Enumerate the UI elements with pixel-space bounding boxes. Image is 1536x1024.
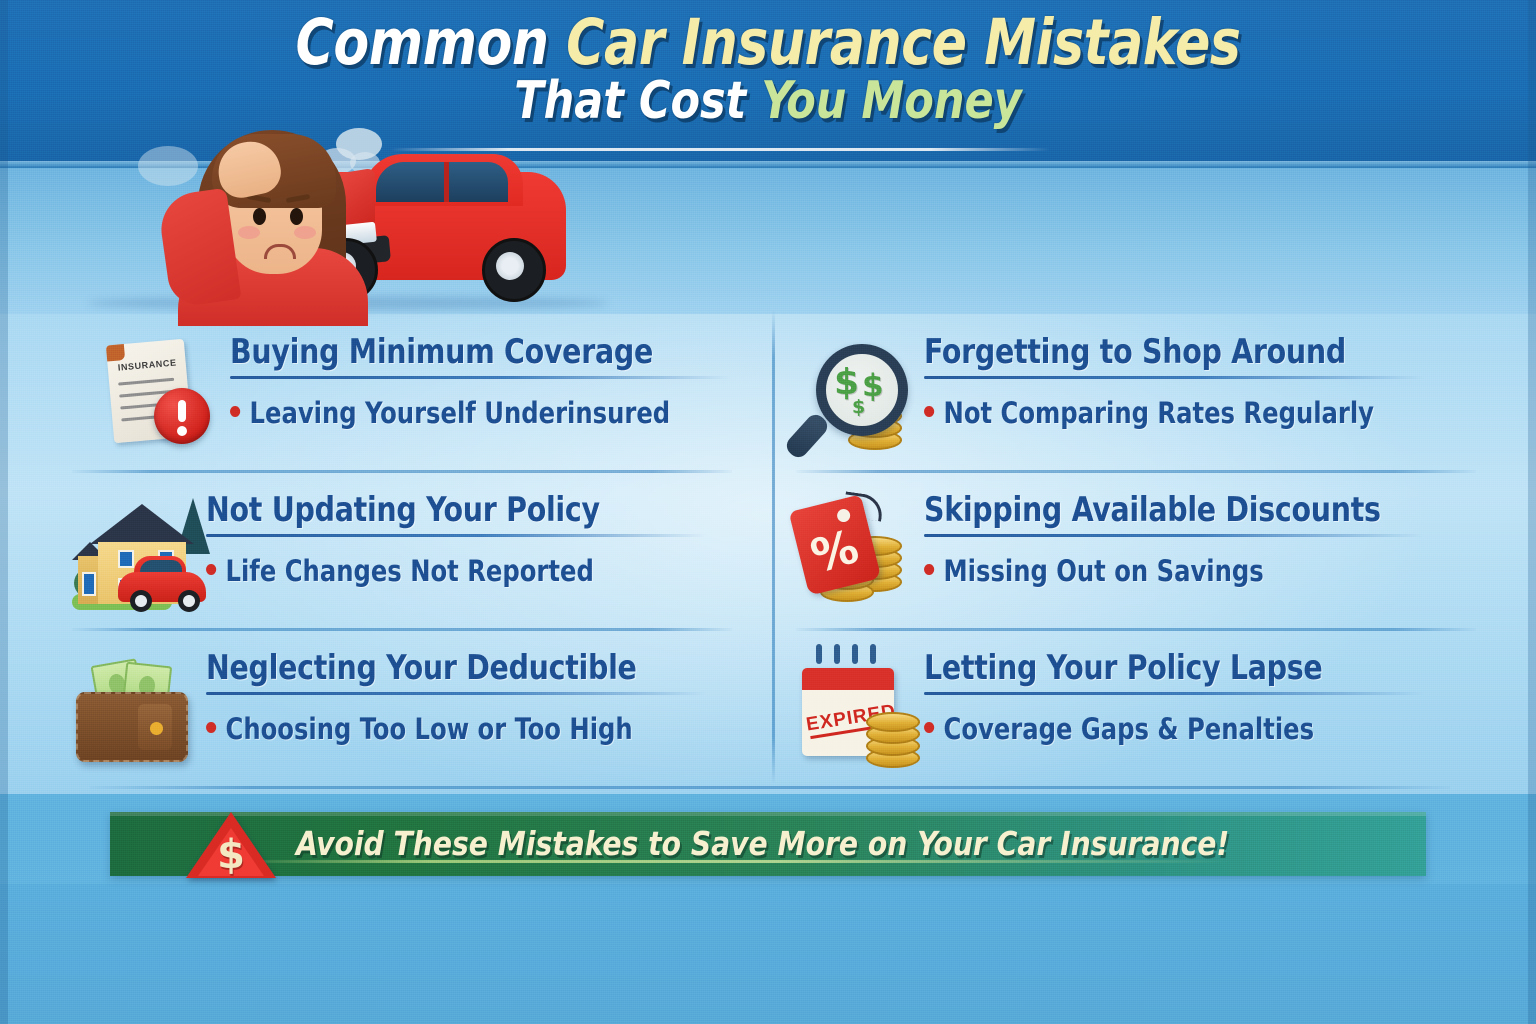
car-window	[376, 162, 508, 202]
mistake-text-group: Forgetting to Shop Around Not Comparing …	[924, 330, 1480, 431]
mistake-item-forgetting-to-shop-around[interactable]: $ $ $ Forgetting to Shop Around Not Comp…	[790, 330, 1480, 480]
heading-rule	[924, 692, 1424, 695]
footer-call-to-action-banner: Avoid These Mistakes to Save More on You…	[110, 812, 1426, 876]
bullet-dot-icon	[230, 406, 240, 417]
magnifier-handle	[783, 411, 831, 461]
mistake-text-group: Buying Minimum Coverage Leaving Yourself…	[230, 330, 786, 431]
dollar-symbol: $	[186, 832, 276, 878]
percent-symbol: %	[805, 519, 864, 584]
title-line1-common: Common	[296, 6, 567, 79]
heading-rule	[924, 534, 1424, 537]
heading-rule	[230, 376, 730, 379]
car-wheel	[130, 590, 152, 612]
woman-cheek-blush	[238, 226, 260, 239]
alert-exclamation-icon	[154, 388, 210, 444]
woman-eye	[253, 208, 266, 225]
title-line2-highlight: You Money	[761, 71, 1022, 131]
mistake-text-group: Skipping Available Discounts Missing Out…	[924, 488, 1480, 589]
mistake-subtext: Choosing Too Low or Too High	[226, 712, 633, 746]
calendar-ring	[852, 644, 858, 664]
calendar-ring	[834, 644, 840, 664]
infographic-poster: Common Car Insurance Mistakes That Cost …	[0, 0, 1536, 1024]
mistake-subtext-row: Life Changes Not Reported	[206, 553, 723, 589]
mistake-subtext: Life Changes Not Reported	[226, 554, 594, 588]
mistake-item-skipping-available-discounts[interactable]: % Skipping Available Discounts Missing O…	[790, 488, 1480, 638]
car-door-pillar	[444, 162, 449, 202]
warning-dollar-sign-icon: $	[186, 806, 276, 884]
car-wheel	[178, 590, 200, 612]
mistake-subtext: Coverage Gaps & Penalties	[944, 712, 1315, 746]
mistake-heading: Neglecting Your Deductible	[206, 646, 723, 690]
wallet-button	[150, 722, 163, 735]
title-line2-thatcost: That Cost	[514, 71, 761, 131]
bullet-dot-icon	[924, 722, 934, 733]
left-edge-vignette	[0, 0, 8, 1024]
magnifier-money-icon: $ $ $	[790, 336, 922, 468]
document-folded-corner	[106, 344, 125, 362]
mistake-heading: Forgetting to Shop Around	[924, 330, 1441, 374]
mistake-subtext: Leaving Yourself Underinsured	[250, 396, 671, 430]
insurance-document-alert-icon: INSURANCE	[96, 336, 228, 468]
mistake-text-group: Not Updating Your Policy Life Changes No…	[206, 488, 762, 589]
mistake-text-group: Letting Your Policy Lapse Coverage Gaps …	[924, 646, 1480, 747]
smoke-puff-icon	[138, 146, 198, 186]
mistake-item-letting-your-policy-lapse[interactable]: EXPIRED Letting Your Policy Lapse Covera…	[790, 646, 1480, 796]
document-text-line	[118, 378, 174, 386]
calendar-header	[802, 668, 894, 690]
house-roof	[90, 504, 194, 544]
woman-eye	[290, 208, 303, 225]
woman-cheek-blush	[294, 226, 316, 239]
bullet-dot-icon	[924, 564, 934, 575]
calendar-ring	[870, 644, 876, 664]
mistake-subtext-row: Choosing Too Low or Too High	[206, 711, 723, 747]
calendar-ring	[816, 644, 822, 664]
heading-rule	[206, 692, 706, 695]
magnifier-lens: $ $ $	[816, 344, 908, 436]
mistake-item-buying-minimum-coverage[interactable]: INSURANCE Buying Minimum Coverage Leavin…	[96, 330, 786, 480]
dollar-sign-icon: $	[862, 368, 884, 404]
house-window	[118, 550, 134, 568]
house-door	[82, 572, 96, 596]
bullet-dot-icon	[206, 564, 216, 575]
mistake-item-neglecting-your-deductible[interactable]: Neglecting Your Deductible Choosing Too …	[72, 646, 762, 796]
bullet-dot-icon	[924, 406, 934, 417]
mistake-heading: Letting Your Policy Lapse	[924, 646, 1441, 690]
bottom-background	[0, 884, 1536, 1024]
mistake-subtext-row: Coverage Gaps & Penalties	[924, 711, 1441, 747]
mistake-subtext-row: Missing Out on Savings	[924, 553, 1441, 589]
expired-calendar-coins-icon: EXPIRED	[790, 652, 922, 784]
mistake-heading: Skipping Available Discounts	[924, 488, 1441, 532]
house-car-icon	[72, 494, 204, 626]
wallet-cash-icon	[72, 652, 204, 784]
banner-top-highlight	[110, 812, 1426, 816]
title-underline	[390, 148, 1050, 151]
car-wheel	[482, 238, 546, 302]
poster-title: Common Car Insurance Mistakes That Cost …	[0, 10, 1536, 130]
mistake-heading: Buying Minimum Coverage	[230, 330, 747, 374]
coin	[866, 712, 920, 732]
dollar-sign-icon: $	[852, 396, 865, 418]
bullet-dot-icon	[206, 722, 216, 733]
document-label: INSURANCE	[117, 358, 176, 373]
mistake-subtext: Not Comparing Rates Regularly	[944, 396, 1374, 430]
mistake-subtext-row: Not Comparing Rates Regularly	[924, 395, 1441, 431]
mistake-text-group: Neglecting Your Deductible Choosing Too …	[206, 646, 762, 747]
mistake-subtext-row: Leaving Yourself Underinsured	[230, 395, 747, 431]
discount-tag-coins-icon: %	[790, 494, 922, 626]
mistake-heading: Not Updating Your Policy	[206, 488, 723, 532]
mistake-item-not-updating-your-policy[interactable]: Not Updating Your Policy Life Changes No…	[72, 488, 762, 638]
heading-rule	[924, 376, 1424, 379]
mistake-subtext: Missing Out on Savings	[944, 554, 1264, 588]
right-edge-vignette	[1528, 0, 1536, 1024]
heading-rule	[206, 534, 706, 537]
footer-cta-text: Avoid These Mistakes to Save More on You…	[296, 824, 1229, 864]
title-line1-highlight: Car Insurance Mistakes	[566, 6, 1240, 79]
